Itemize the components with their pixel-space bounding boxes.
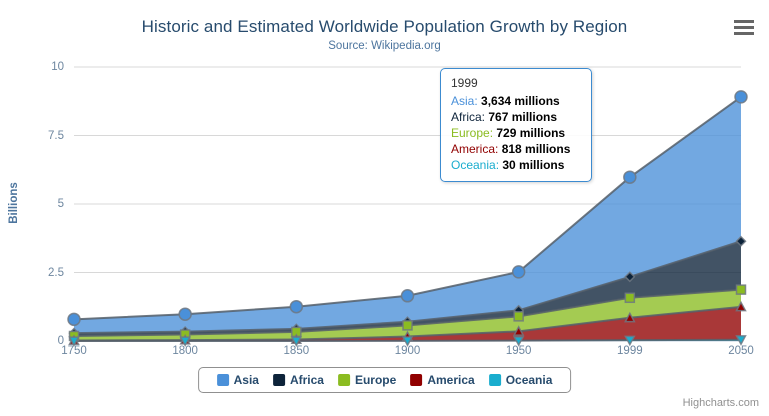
tooltip-series-name: Oceania:	[451, 158, 502, 172]
data-point-marker[interactable]	[625, 293, 634, 302]
data-point-marker[interactable]	[513, 266, 525, 278]
legend-item-label: Asia	[234, 373, 259, 387]
data-point-marker[interactable]	[735, 91, 747, 103]
data-point-marker[interactable]	[514, 312, 523, 321]
y-axis-title: Billions	[8, 182, 20, 224]
legend-swatch-icon	[489, 374, 501, 386]
tooltip-series-value: 767 millions	[488, 110, 557, 124]
x-axis-tick-label: 2050	[728, 345, 754, 357]
tooltip-series-name: America:	[451, 142, 502, 156]
tooltip-row-america: America: 818 millions	[451, 141, 581, 157]
menu-bar-2	[734, 26, 754, 29]
legend-item-oceania[interactable]: Oceania	[482, 373, 560, 387]
legend-item-asia[interactable]: Asia	[210, 373, 266, 387]
chart-legend: AsiaAfricaEuropeAmericaOceania	[198, 367, 572, 393]
chart-title: Historic and Estimated Worldwide Populat…	[0, 17, 769, 37]
tooltip-series-value: 3,634 millions	[481, 94, 560, 108]
legend-item-africa[interactable]: Africa	[266, 373, 331, 387]
legend-item-europe[interactable]: Europe	[331, 373, 403, 387]
legend-swatch-icon	[410, 374, 422, 386]
tooltip-series-name: Africa:	[451, 110, 488, 124]
y-axis-tick-label: 7.5	[48, 130, 64, 142]
legend-swatch-icon	[338, 374, 350, 386]
highcharts-credits[interactable]: Highcharts.com	[683, 397, 759, 409]
tooltip-row-asia: Asia: 3,634 millions	[451, 93, 581, 109]
menu-bar-1	[734, 20, 754, 23]
chart-plot-svg	[74, 67, 741, 341]
tooltip-series-value: 30 millions	[502, 158, 564, 172]
data-point-marker[interactable]	[68, 313, 80, 325]
data-point-marker[interactable]	[403, 321, 412, 330]
highcharts-container: Historic and Estimated Worldwide Populat…	[0, 0, 769, 416]
tooltip-header: 1999	[451, 75, 581, 91]
hamburger-menu-icon[interactable]	[732, 16, 756, 38]
x-axis-tick-label: 1999	[617, 345, 643, 357]
tooltip-row-oceania: Oceania: 30 millions	[451, 157, 581, 173]
legend-item-label: Europe	[355, 373, 396, 387]
legend-swatch-icon	[217, 374, 229, 386]
legend-item-label: Oceania	[506, 373, 553, 387]
tooltip-row-europe: Europe: 729 millions	[451, 125, 581, 141]
legend-item-label: America	[427, 373, 474, 387]
y-axis-tick-label: 0	[58, 335, 64, 347]
tooltip-series-value: 729 millions	[496, 126, 565, 140]
plot-area	[74, 67, 741, 341]
y-axis-tick-label: 5	[58, 198, 64, 210]
data-point-marker[interactable]	[179, 308, 191, 320]
legend-item-label: Africa	[290, 373, 324, 387]
tooltip-series-name: Europe:	[451, 126, 496, 140]
chart-tooltip: 1999 Asia: 3,634 millionsAfrica: 767 mil…	[440, 68, 592, 182]
y-axis-tick-label: 2.5	[48, 267, 64, 279]
legend-swatch-icon	[273, 374, 285, 386]
tooltip-row-africa: Africa: 767 millions	[451, 109, 581, 125]
data-point-marker[interactable]	[737, 285, 746, 294]
data-point-marker[interactable]	[402, 290, 414, 302]
menu-bar-3	[734, 32, 754, 35]
chart-subtitle: Source: Wikipedia.org	[0, 39, 769, 53]
data-point-marker[interactable]	[624, 171, 636, 183]
x-axis-tick-label: 1950	[506, 345, 532, 357]
x-axis: 1750180018501900195019992050	[74, 345, 741, 363]
legend-item-america[interactable]: America	[403, 373, 481, 387]
y-axis: Billions 02.557.510	[0, 0, 74, 416]
tooltip-series-name: Asia:	[451, 94, 481, 108]
y-axis-tick-label: 10	[51, 61, 64, 73]
data-point-marker[interactable]	[290, 301, 302, 313]
tooltip-series-value: 818 millions	[502, 142, 571, 156]
